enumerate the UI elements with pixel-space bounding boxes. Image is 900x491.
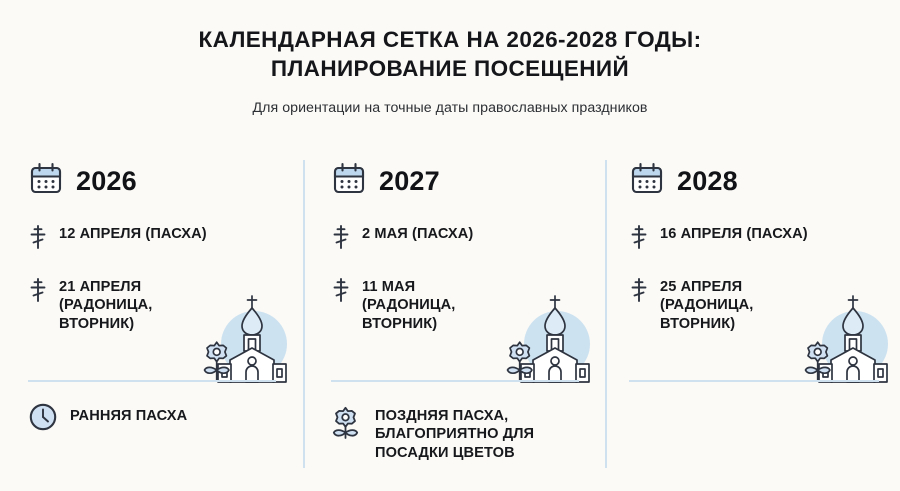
event-list-2028: 16 АПРЕЛЯ (ПАСХА) 25 АПРЕЛЯ (РАДОНИЦА, В… <box>629 222 900 333</box>
page-subtitle: Для ориентации на точные даты православн… <box>0 100 900 116</box>
page-title: КАЛЕНДАРНАЯ СЕТКА НА 2026-2028 ГОДЫ: ПЛА… <box>0 26 900 84</box>
event-item: 11 МАЯ (РАДОНИЦА, ВТОРНИК) <box>331 275 605 333</box>
note-2026: РАННЯЯ ПАСХА <box>28 402 187 437</box>
event-text: 2 МАЯ (ПАСХА) <box>362 222 473 243</box>
event-text: 16 АПРЕЛЯ (ПАСХА) <box>660 222 808 243</box>
calendar-icon <box>28 161 64 202</box>
event-item: 2 МАЯ (ПАСХА) <box>331 222 605 255</box>
note-2027: ПОЗДНЯЯ ПАСХА, БЛАГОПРИЯТНО ДЛЯ ПОСАДКИ … <box>331 402 534 462</box>
page-header: КАЛЕНДАРНАЯ СЕТКА НА 2026-2028 ГОДЫ: ПЛА… <box>0 0 900 116</box>
year-column-2026: 2026 12 АПРЕЛЯ (ПАСХА) <box>0 152 303 491</box>
orthodox-cross-icon <box>629 277 649 308</box>
year-column-2028: 2028 16 АПРЕЛЯ (ПАСХА) <box>605 152 900 491</box>
section-divider <box>331 380 579 382</box>
year-column-2027: 2027 2 МАЯ (ПАСХА) <box>303 152 605 491</box>
page-title-line-1: КАЛЕНДАРНАЯ СЕТКА НА 2026-2028 ГОДЫ: <box>0 26 900 55</box>
note-text: РАННЯЯ ПАСХА <box>70 402 187 425</box>
flower-icon <box>331 402 363 445</box>
event-item: 12 АПРЕЛЯ (ПАСХА) <box>28 222 303 255</box>
note-text: ПОЗДНЯЯ ПАСХА, БЛАГОПРИЯТНО ДЛЯ ПОСАДКИ … <box>375 402 534 462</box>
event-list-2026: 12 АПРЕЛЯ (ПАСХА) 21 АПРЕЛЯ (РАДОНИЦА, В… <box>28 222 303 333</box>
section-divider <box>629 380 879 382</box>
orthodox-cross-icon <box>331 224 351 255</box>
year-label: 2026 <box>76 166 137 197</box>
clock-icon <box>28 402 58 437</box>
event-text: 25 АПРЕЛЯ (РАДОНИЦА, ВТОРНИК) <box>660 275 753 333</box>
year-header-2026: 2026 <box>28 158 303 204</box>
event-text: 12 АПРЕЛЯ (ПАСХА) <box>59 222 207 243</box>
event-text: 21 АПРЕЛЯ (РАДОНИЦА, ВТОРНИК) <box>59 275 152 333</box>
calendar-icon <box>629 161 665 202</box>
event-item: 25 АПРЕЛЯ (РАДОНИЦА, ВТОРНИК) <box>629 275 900 333</box>
year-columns: 2026 12 АПРЕЛЯ (ПАСХА) <box>0 152 900 491</box>
year-label: 2028 <box>677 166 738 197</box>
year-label: 2027 <box>379 166 440 197</box>
orthodox-cross-icon <box>28 224 48 255</box>
event-text: 11 МАЯ (РАДОНИЦА, ВТОРНИК) <box>362 275 455 333</box>
orthodox-cross-icon <box>331 277 351 308</box>
year-header-2027: 2027 <box>331 158 605 204</box>
event-item: 16 АПРЕЛЯ (ПАСХА) <box>629 222 900 255</box>
section-divider <box>28 380 276 382</box>
event-list-2027: 2 МАЯ (ПАСХА) 11 МАЯ (РАДОНИЦА, ВТОРНИК) <box>331 222 605 333</box>
calendar-icon <box>331 161 367 202</box>
page-title-line-2: ПЛАНИРОВАНИЕ ПОСЕЩЕНИЙ <box>0 55 900 84</box>
year-header-2028: 2028 <box>629 158 900 204</box>
orthodox-cross-icon <box>28 277 48 308</box>
orthodox-cross-icon <box>629 224 649 255</box>
event-item: 21 АПРЕЛЯ (РАДОНИЦА, ВТОРНИК) <box>28 275 303 333</box>
